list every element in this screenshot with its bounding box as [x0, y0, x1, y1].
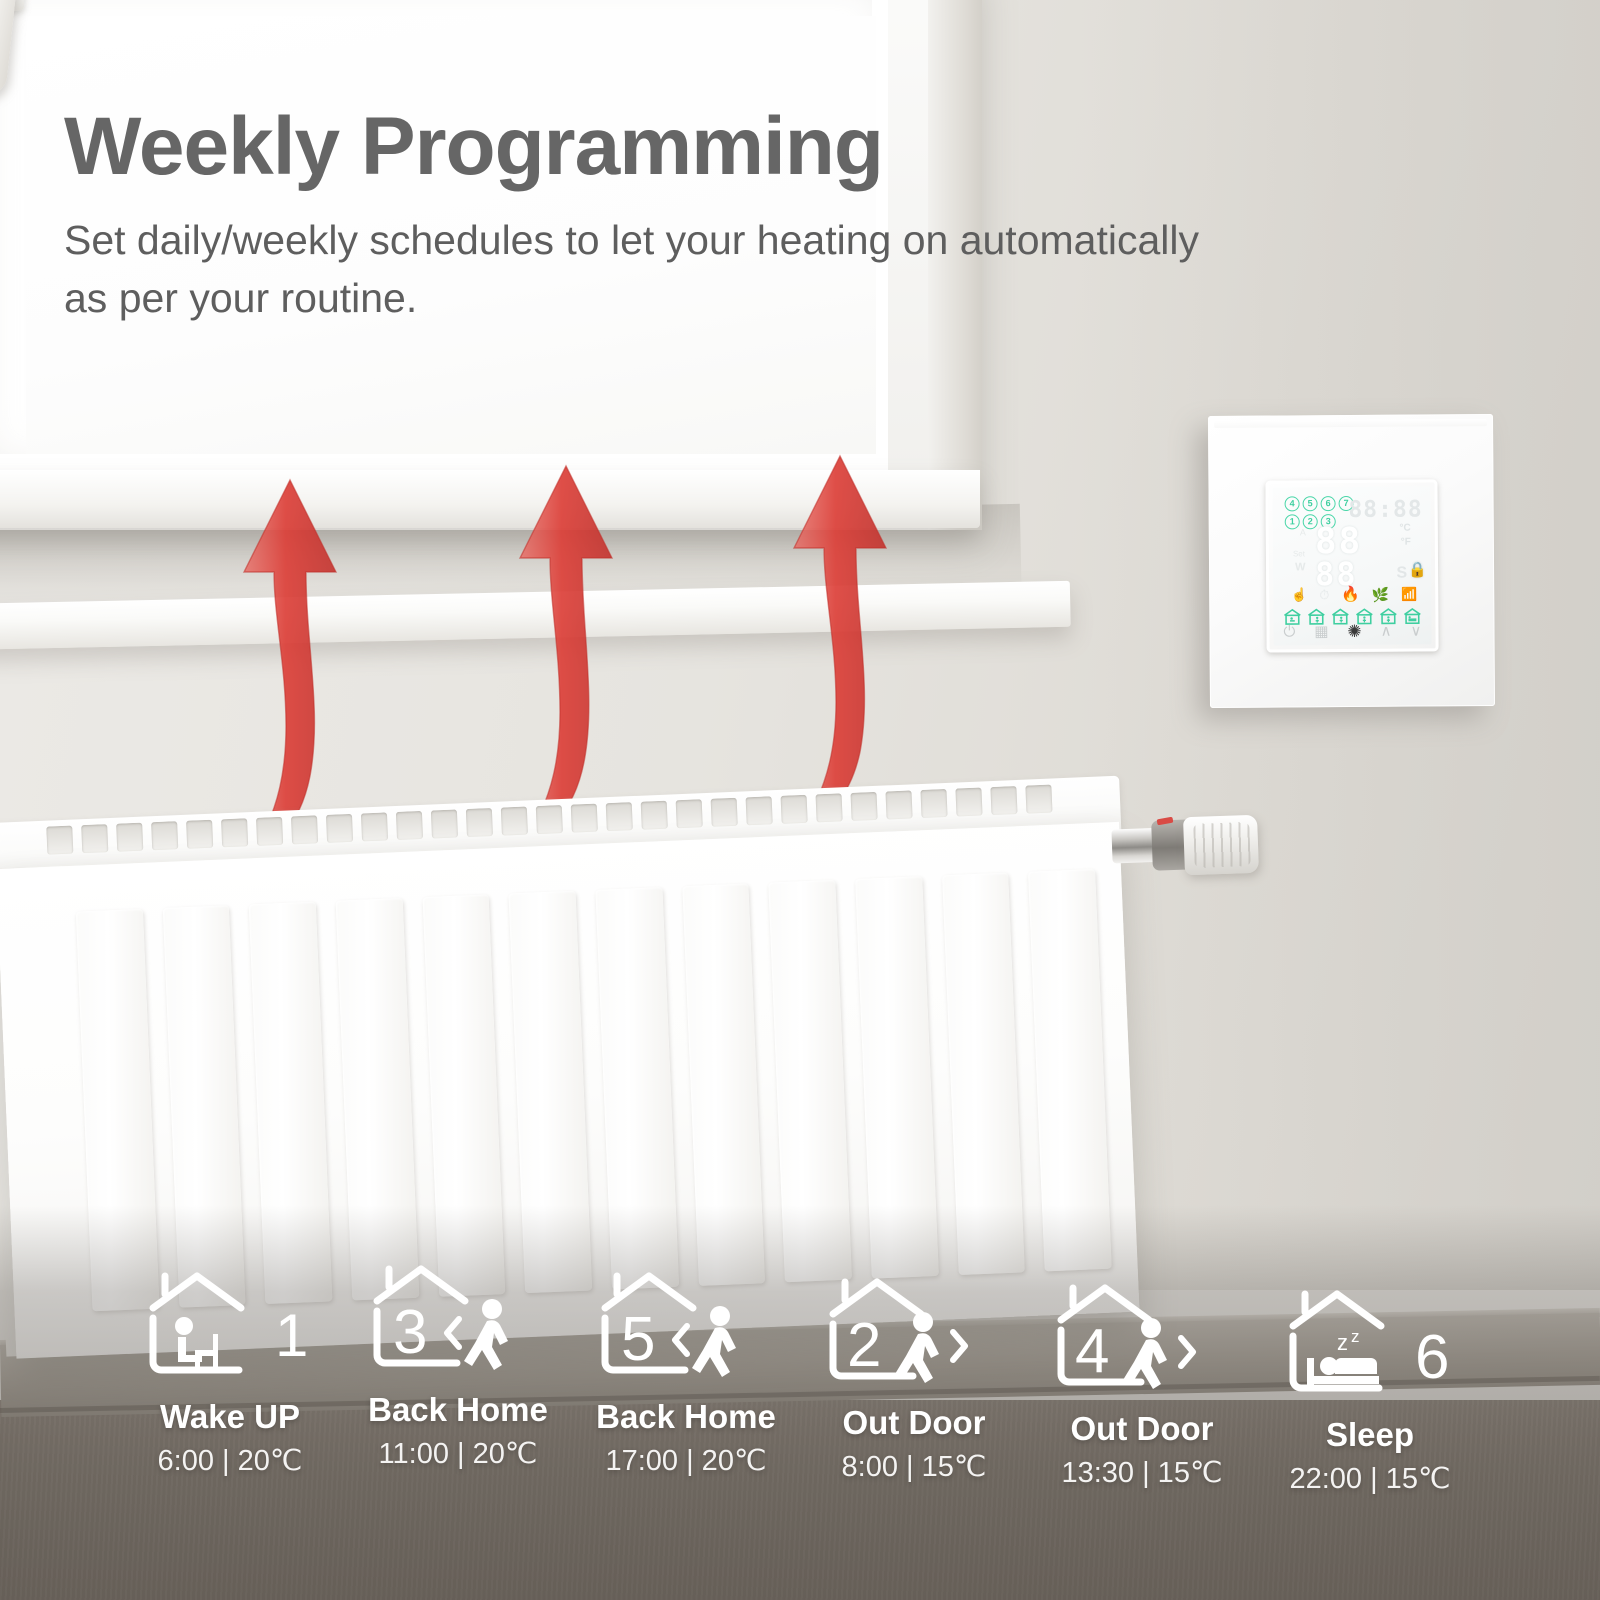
chevron-left-icon — [447, 1319, 459, 1347]
svg-text:z: z — [1351, 1327, 1360, 1346]
thermostatic-radiator-valve[interactable] — [1183, 815, 1259, 876]
schedule-title: Sleep — [1256, 1416, 1484, 1454]
house-entering-icon: 5 — [572, 1262, 800, 1382]
day-indicator: 4 — [1285, 496, 1300, 511]
temp-up-button[interactable]: ∧ — [1381, 624, 1392, 639]
day-indicator: 6 — [1321, 496, 1336, 511]
schedule-meta: 8:00 | 15℃ — [800, 1449, 1028, 1484]
schedule-item: 5 Back Home 17:00 | 20℃ — [572, 1262, 800, 1478]
schedule-number: 4 — [1075, 1317, 1109, 1386]
day-indicator: 5 — [1303, 496, 1318, 511]
svg-text:z: z — [1337, 1330, 1348, 1355]
schedule-number: 5 — [621, 1305, 655, 1374]
thermostat-display: 4 5 6 7 1 2 3 88:88 A Set W 88 88 — [1272, 486, 1431, 645]
seconds-unit: S — [1396, 565, 1407, 583]
leaf-eco-icon: 🌿 — [1372, 587, 1390, 601]
schedule-title: Wake UP — [116, 1398, 344, 1436]
power-button[interactable]: ⏻ — [1283, 624, 1295, 639]
chevron-left-icon — [675, 1326, 687, 1354]
schedule-number: 1 — [275, 1302, 308, 1369]
house-leaving-icon: 2 — [800, 1268, 1028, 1388]
schedule-item: 1 Wake UP 6:00 | 20℃ — [116, 1262, 344, 1478]
display-label-set: Set — [1293, 549, 1305, 558]
chevron-right-icon — [953, 1332, 965, 1360]
headline-block: Weekly Programming Set daily/weekly sche… — [64, 104, 1244, 328]
schedule-item: 4 Out Door 13:30 | 15℃ — [1028, 1274, 1256, 1490]
schedule-number: 2 — [847, 1311, 881, 1380]
temp-down-button[interactable]: ∨ — [1410, 624, 1421, 639]
product-feature-image: Weekly Programming Set daily/weekly sche… — [0, 0, 1600, 1600]
schedule-title: Out Door — [800, 1404, 1028, 1442]
schedule-item: z z 6 Sleep 22:00 | 15℃ — [1256, 1280, 1484, 1496]
chevron-right-icon — [1181, 1338, 1193, 1366]
schedule-strip: 1 Wake UP 6:00 | 20℃ 3 — [0, 1262, 1600, 1562]
schedule-meta: 17:00 | 20℃ — [572, 1443, 800, 1478]
page-title: Weekly Programming — [64, 104, 1244, 189]
thermostat-button-row: ⏻ ▦ ✺ ∧ ∨ — [1283, 623, 1421, 641]
schedule-number: 3 — [393, 1298, 427, 1367]
schedule-title: Out Door — [1028, 1410, 1256, 1448]
schedule-meta: 6:00 | 20℃ — [116, 1443, 344, 1478]
clock-auto-icon: ⏱ — [1319, 588, 1329, 601]
rising-heat-arrow — [786, 452, 894, 812]
house-sleeping-icon: z z 6 — [1256, 1280, 1484, 1400]
schedule-meta: 13:30 | 15℃ — [1028, 1455, 1256, 1490]
day-indicator: 1 — [1285, 514, 1300, 529]
display-label-a: A — [1300, 527, 1306, 537]
schedule-meta: 11:00 | 20℃ — [344, 1436, 572, 1471]
clock-display: 88:88 — [1348, 497, 1422, 524]
schedule-item: 3 Back Home 11:00 | 20℃ — [344, 1255, 572, 1471]
menu-grid-button[interactable]: ▦ — [1314, 624, 1328, 639]
fahrenheit-unit: °F — [1401, 537, 1411, 548]
schedule-number: 6 — [1415, 1323, 1449, 1392]
schedule-item: 2 Out Door 8:00 | 15℃ — [800, 1268, 1028, 1484]
schedule-title: Back Home — [572, 1398, 800, 1436]
thermostat-bezel: 4 5 6 7 1 2 3 88:88 A Set W 88 88 — [1265, 479, 1438, 652]
schedule-title: Back Home — [344, 1391, 572, 1429]
smart-thermostat[interactable]: 4 5 6 7 1 2 3 88:88 A Set W 88 88 — [1208, 414, 1495, 708]
settings-gear-button[interactable]: ✺ — [1347, 623, 1361, 640]
page-subtitle: Set daily/weekly schedules to let your h… — [64, 211, 1229, 327]
house-leaving-icon: 4 — [1028, 1274, 1256, 1394]
celsius-unit: °C — [1399, 523, 1410, 534]
display-label-w: W — [1295, 561, 1305, 573]
status-icon-row: ☝ ⏱ 🔥 🌿 📶 — [1291, 587, 1417, 603]
lock-icon: 🔒 — [1408, 560, 1427, 578]
schedule-meta: 22:00 | 15℃ — [1256, 1461, 1484, 1496]
wifi-icon: 📶 — [1401, 588, 1417, 601]
radiator-ribs — [76, 869, 1112, 1311]
house-sitting-icon: 1 — [116, 1262, 344, 1382]
flame-heating-icon: 🔥 — [1341, 587, 1360, 602]
manual-hand-icon: ☝ — [1291, 588, 1307, 601]
house-entering-icon: 3 — [344, 1255, 572, 1375]
